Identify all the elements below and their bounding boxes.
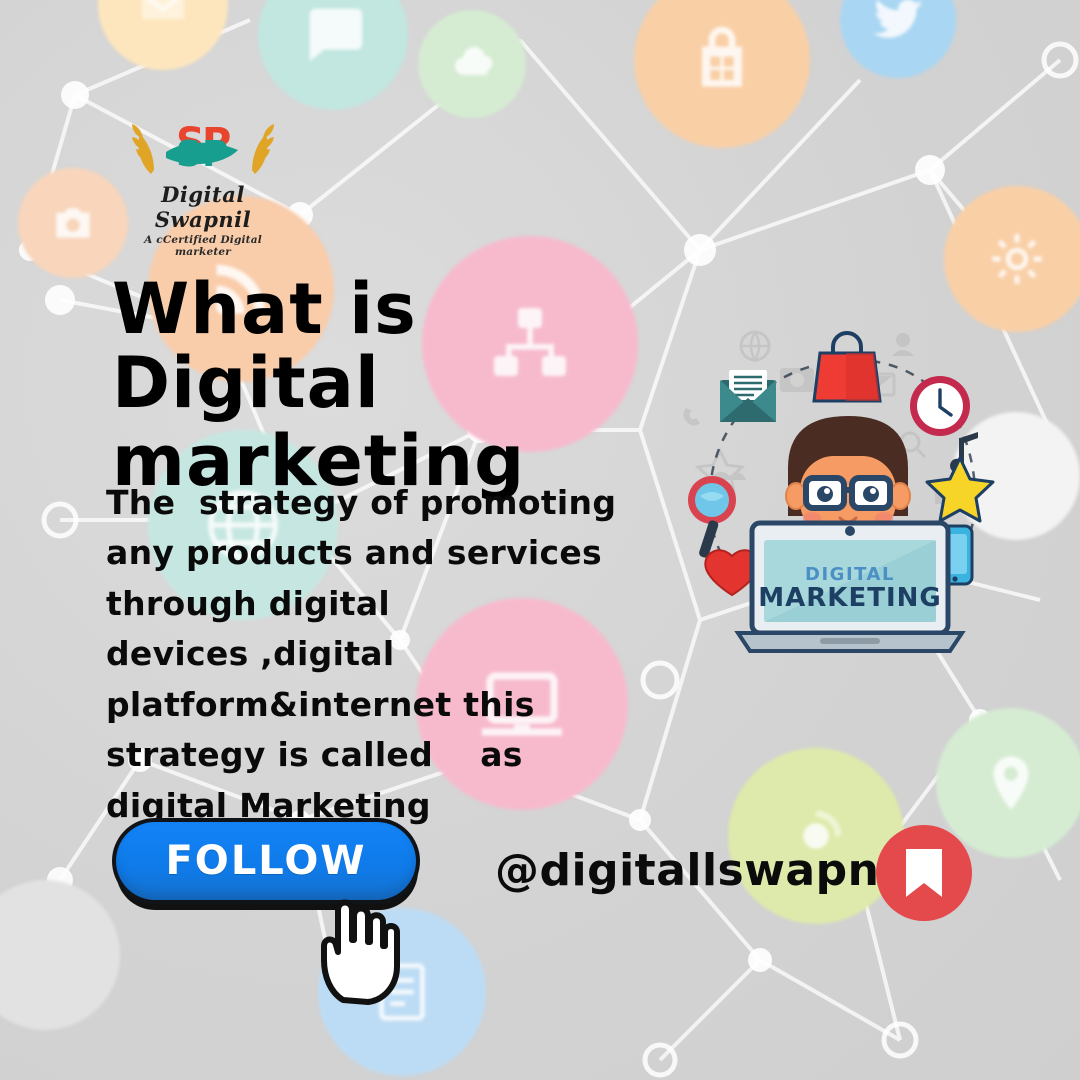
- page-title: What is Digital marketing: [112, 272, 672, 499]
- digital-marketing-illustration: DIGITAL MARKETING: [660, 318, 1040, 663]
- boy-character: [786, 416, 910, 536]
- shopping-bag-icon: [682, 20, 762, 100]
- bg-blob-megaphone: [728, 748, 904, 924]
- body-line: any products and services: [106, 528, 646, 578]
- user-avatar-icon: [896, 333, 910, 347]
- magnifier-globe-icon: [688, 476, 736, 559]
- illustration-svg: DIGITAL MARKETING: [660, 318, 1040, 663]
- laptop-screen-line-1: DIGITAL: [805, 564, 895, 585]
- location-pin-icon: [979, 751, 1043, 815]
- cloud-icon: [446, 38, 498, 90]
- bg-blob-cloud: [418, 10, 526, 118]
- body-line: devices ,digital: [106, 629, 646, 679]
- headline-line-1: What is Digital: [112, 268, 417, 424]
- bookmark-save-icon: [902, 847, 946, 899]
- shopping-bag-icon: [814, 333, 880, 401]
- follow-button-label: FOLLOW: [165, 838, 366, 884]
- instagram-handle[interactable]: @digitallswapnill: [495, 845, 926, 896]
- body-line: through digital: [106, 579, 646, 629]
- settings-gear-icon: [984, 226, 1050, 292]
- bg-blob-pin: [936, 708, 1080, 858]
- svg-text:P: P: [202, 134, 228, 175]
- body-line: The strategy of promoting: [106, 478, 646, 528]
- chat-bubble-icon: [298, 0, 368, 70]
- mail-icon: [135, 0, 191, 33]
- follow-cta[interactable]: FOLLOW: [112, 818, 422, 916]
- body-line: platform&internet this: [106, 680, 646, 730]
- svg-text:S: S: [176, 134, 202, 175]
- logo-mark: S P S P: [118, 108, 288, 186]
- laptop-icon: DIGITAL MARKETING: [738, 523, 962, 651]
- pointing-hand-cursor-icon: [310, 888, 406, 1006]
- alarm-clock-icon: [910, 376, 970, 436]
- camera-icon: [48, 198, 98, 248]
- poster-canvas: S P S P Digital Swapnil A cCertified Dig…: [0, 0, 1080, 1080]
- star-icon: [927, 458, 993, 521]
- body-paragraph: The strategy of promoting any products a…: [106, 478, 646, 831]
- logo-tagline: A cCertified Digital marketer: [118, 234, 288, 258]
- body-line: strategy is called as: [106, 730, 646, 780]
- phone-ring-icon: [683, 408, 700, 426]
- sp-monogram-icon: S P S P: [118, 108, 288, 186]
- bg-blob-camera: [18, 168, 128, 278]
- logo-name: Digital Swapnil: [118, 182, 288, 232]
- save-badge[interactable]: [876, 825, 972, 921]
- bg-blob-gear: [944, 186, 1080, 332]
- twitter-bird-icon: [868, 0, 928, 50]
- brand-logo[interactable]: S P S P Digital Swapnil A cCertified Dig…: [118, 108, 288, 258]
- envelope-mail-icon: [720, 370, 776, 422]
- laptop-screen-line-2: MARKETING: [758, 583, 941, 613]
